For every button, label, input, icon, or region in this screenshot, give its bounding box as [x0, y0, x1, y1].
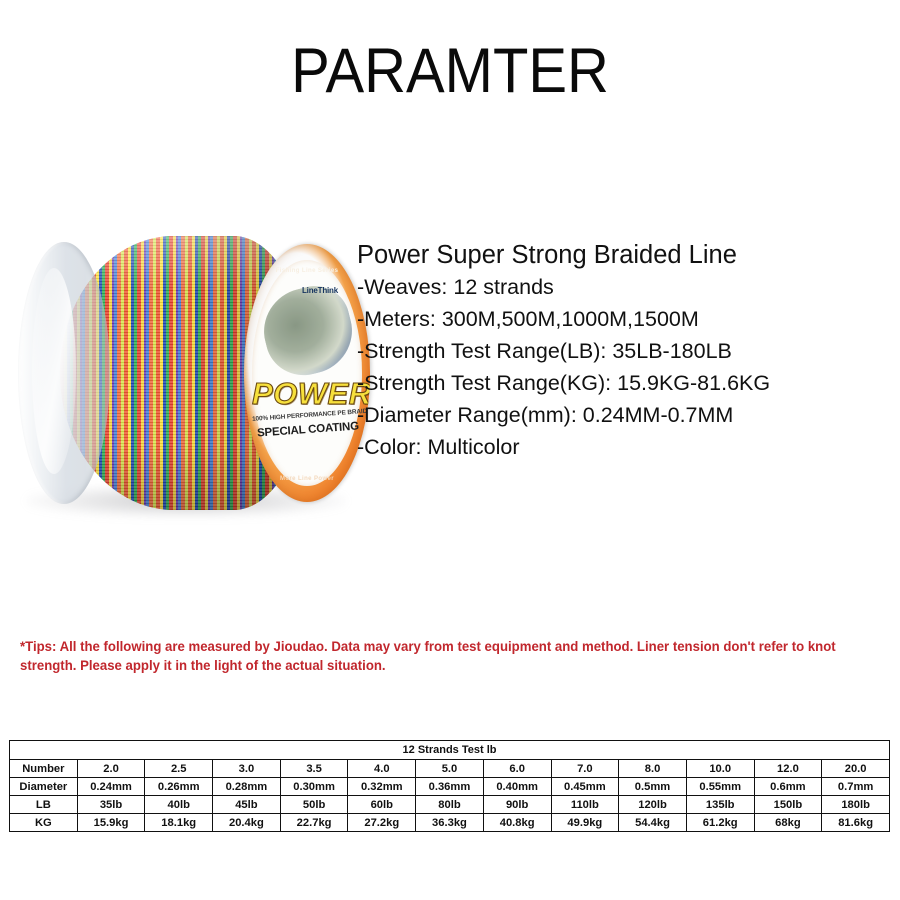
- spool-flange-left: [18, 242, 110, 504]
- cell-number-3: 3.5: [280, 760, 348, 778]
- cell-lb-7: 110lb: [551, 796, 619, 814]
- cell-diameter-4: 0.32mm: [348, 778, 416, 796]
- row-label-kg: KG: [10, 814, 78, 832]
- tips-note: *Tips: All the following are measured by…: [20, 637, 854, 675]
- cell-lb-10: 150lb: [754, 796, 822, 814]
- table-row-diameter: Diameter 0.24mm 0.26mm 0.28mm 0.30mm 0.3…: [10, 778, 890, 796]
- brand-name: LineThink: [302, 286, 338, 295]
- cell-lb-1: 40lb: [145, 796, 213, 814]
- label-arc-top-text: Fishing Line Series: [244, 268, 370, 274]
- cell-number-4: 4.0: [348, 760, 416, 778]
- spec-heading: Power Super Strong Braided Line: [357, 240, 897, 270]
- cell-lb-9: 135lb: [686, 796, 754, 814]
- cell-kg-3: 22.7kg: [280, 814, 348, 832]
- spec-item-weaves: -Weaves: 12 strands: [357, 271, 897, 303]
- cell-diameter-9: 0.55mm: [686, 778, 754, 796]
- cell-kg-7: 49.9kg: [551, 814, 619, 832]
- spec-item-strength-kg: -Strength Test Range(KG): 15.9KG-81.6KG: [357, 367, 897, 399]
- cell-number-7: 7.0: [551, 760, 619, 778]
- table-caption: 12 Strands Test lb: [10, 741, 890, 760]
- cell-kg-9: 61.2kg: [686, 814, 754, 832]
- cell-lb-5: 80lb: [416, 796, 484, 814]
- cell-number-8: 8.0: [619, 760, 687, 778]
- cell-lb-4: 60lb: [348, 796, 416, 814]
- cell-kg-0: 15.9kg: [77, 814, 145, 832]
- cell-kg-1: 18.1kg: [145, 814, 213, 832]
- cell-number-0: 2.0: [77, 760, 145, 778]
- table-caption-row: 12 Strands Test lb: [10, 741, 890, 760]
- cell-number-10: 12.0: [754, 760, 822, 778]
- table-row-kg: KG 15.9kg 18.1kg 20.4kg 22.7kg 27.2kg 36…: [10, 814, 890, 832]
- cell-number-1: 2.5: [145, 760, 213, 778]
- spec-item-diameter: -Diameter Range(mm): 0.24MM-0.7MM: [357, 399, 897, 431]
- cell-number-11: 20.0: [822, 760, 890, 778]
- table-row-lb: LB 35lb 40lb 45lb 50lb 60lb 80lb 90lb 11…: [10, 796, 890, 814]
- cell-lb-2: 45lb: [213, 796, 281, 814]
- cell-diameter-10: 0.6mm: [754, 778, 822, 796]
- cell-lb-6: 90lb: [483, 796, 551, 814]
- cell-diameter-0: 0.24mm: [77, 778, 145, 796]
- spec-item-color: -Color: Multicolor: [357, 431, 897, 463]
- cell-lb-0: 35lb: [77, 796, 145, 814]
- spool-label-disc: Fishing Line Series LineThink POWER 100%…: [244, 244, 370, 502]
- cell-number-9: 10.0: [686, 760, 754, 778]
- row-label-diameter: Diameter: [10, 778, 78, 796]
- cell-diameter-1: 0.26mm: [145, 778, 213, 796]
- cell-kg-10: 68kg: [754, 814, 822, 832]
- cell-number-2: 3.0: [213, 760, 281, 778]
- cell-diameter-5: 0.36mm: [416, 778, 484, 796]
- cell-diameter-8: 0.5mm: [619, 778, 687, 796]
- specification-list: Power Super Strong Braided Line -Weaves:…: [357, 240, 897, 463]
- cell-kg-11: 81.6kg: [822, 814, 890, 832]
- product-image: Fishing Line Series LineThink POWER 100%…: [8, 222, 366, 540]
- cell-lb-3: 50lb: [280, 796, 348, 814]
- label-wordmark: POWER: [252, 376, 364, 412]
- cell-number-5: 5.0: [416, 760, 484, 778]
- page-title: PARAMTER: [36, 38, 864, 104]
- cell-diameter-6: 0.40mm: [483, 778, 551, 796]
- specification-table: 12 Strands Test lb Number 2.0 2.5 3.0 3.…: [9, 740, 890, 832]
- cell-kg-2: 20.4kg: [213, 814, 281, 832]
- cell-kg-8: 54.4kg: [619, 814, 687, 832]
- product-parameter-page: PARAMTER Fishing Line Series LineThink P…: [0, 0, 900, 900]
- row-label-number: Number: [10, 760, 78, 778]
- cell-diameter-7: 0.45mm: [551, 778, 619, 796]
- cell-number-6: 6.0: [483, 760, 551, 778]
- cell-lb-8: 120lb: [619, 796, 687, 814]
- spec-item-strength-lb: -Strength Test Range(LB): 35LB-180LB: [357, 335, 897, 367]
- cell-lb-11: 180lb: [822, 796, 890, 814]
- spec-item-meters: -Meters: 300M,500M,1000M,1500M: [357, 303, 897, 335]
- cell-kg-6: 40.8kg: [483, 814, 551, 832]
- row-label-lb: LB: [10, 796, 78, 814]
- cell-diameter-3: 0.30mm: [280, 778, 348, 796]
- cell-kg-4: 27.2kg: [348, 814, 416, 832]
- cell-kg-5: 36.3kg: [416, 814, 484, 832]
- label-arc-bottom-text: More Line Power: [244, 476, 370, 482]
- cell-diameter-2: 0.28mm: [213, 778, 281, 796]
- table-row-number: Number 2.0 2.5 3.0 3.5 4.0 5.0 6.0 7.0 8…: [10, 760, 890, 778]
- cell-diameter-11: 0.7mm: [822, 778, 890, 796]
